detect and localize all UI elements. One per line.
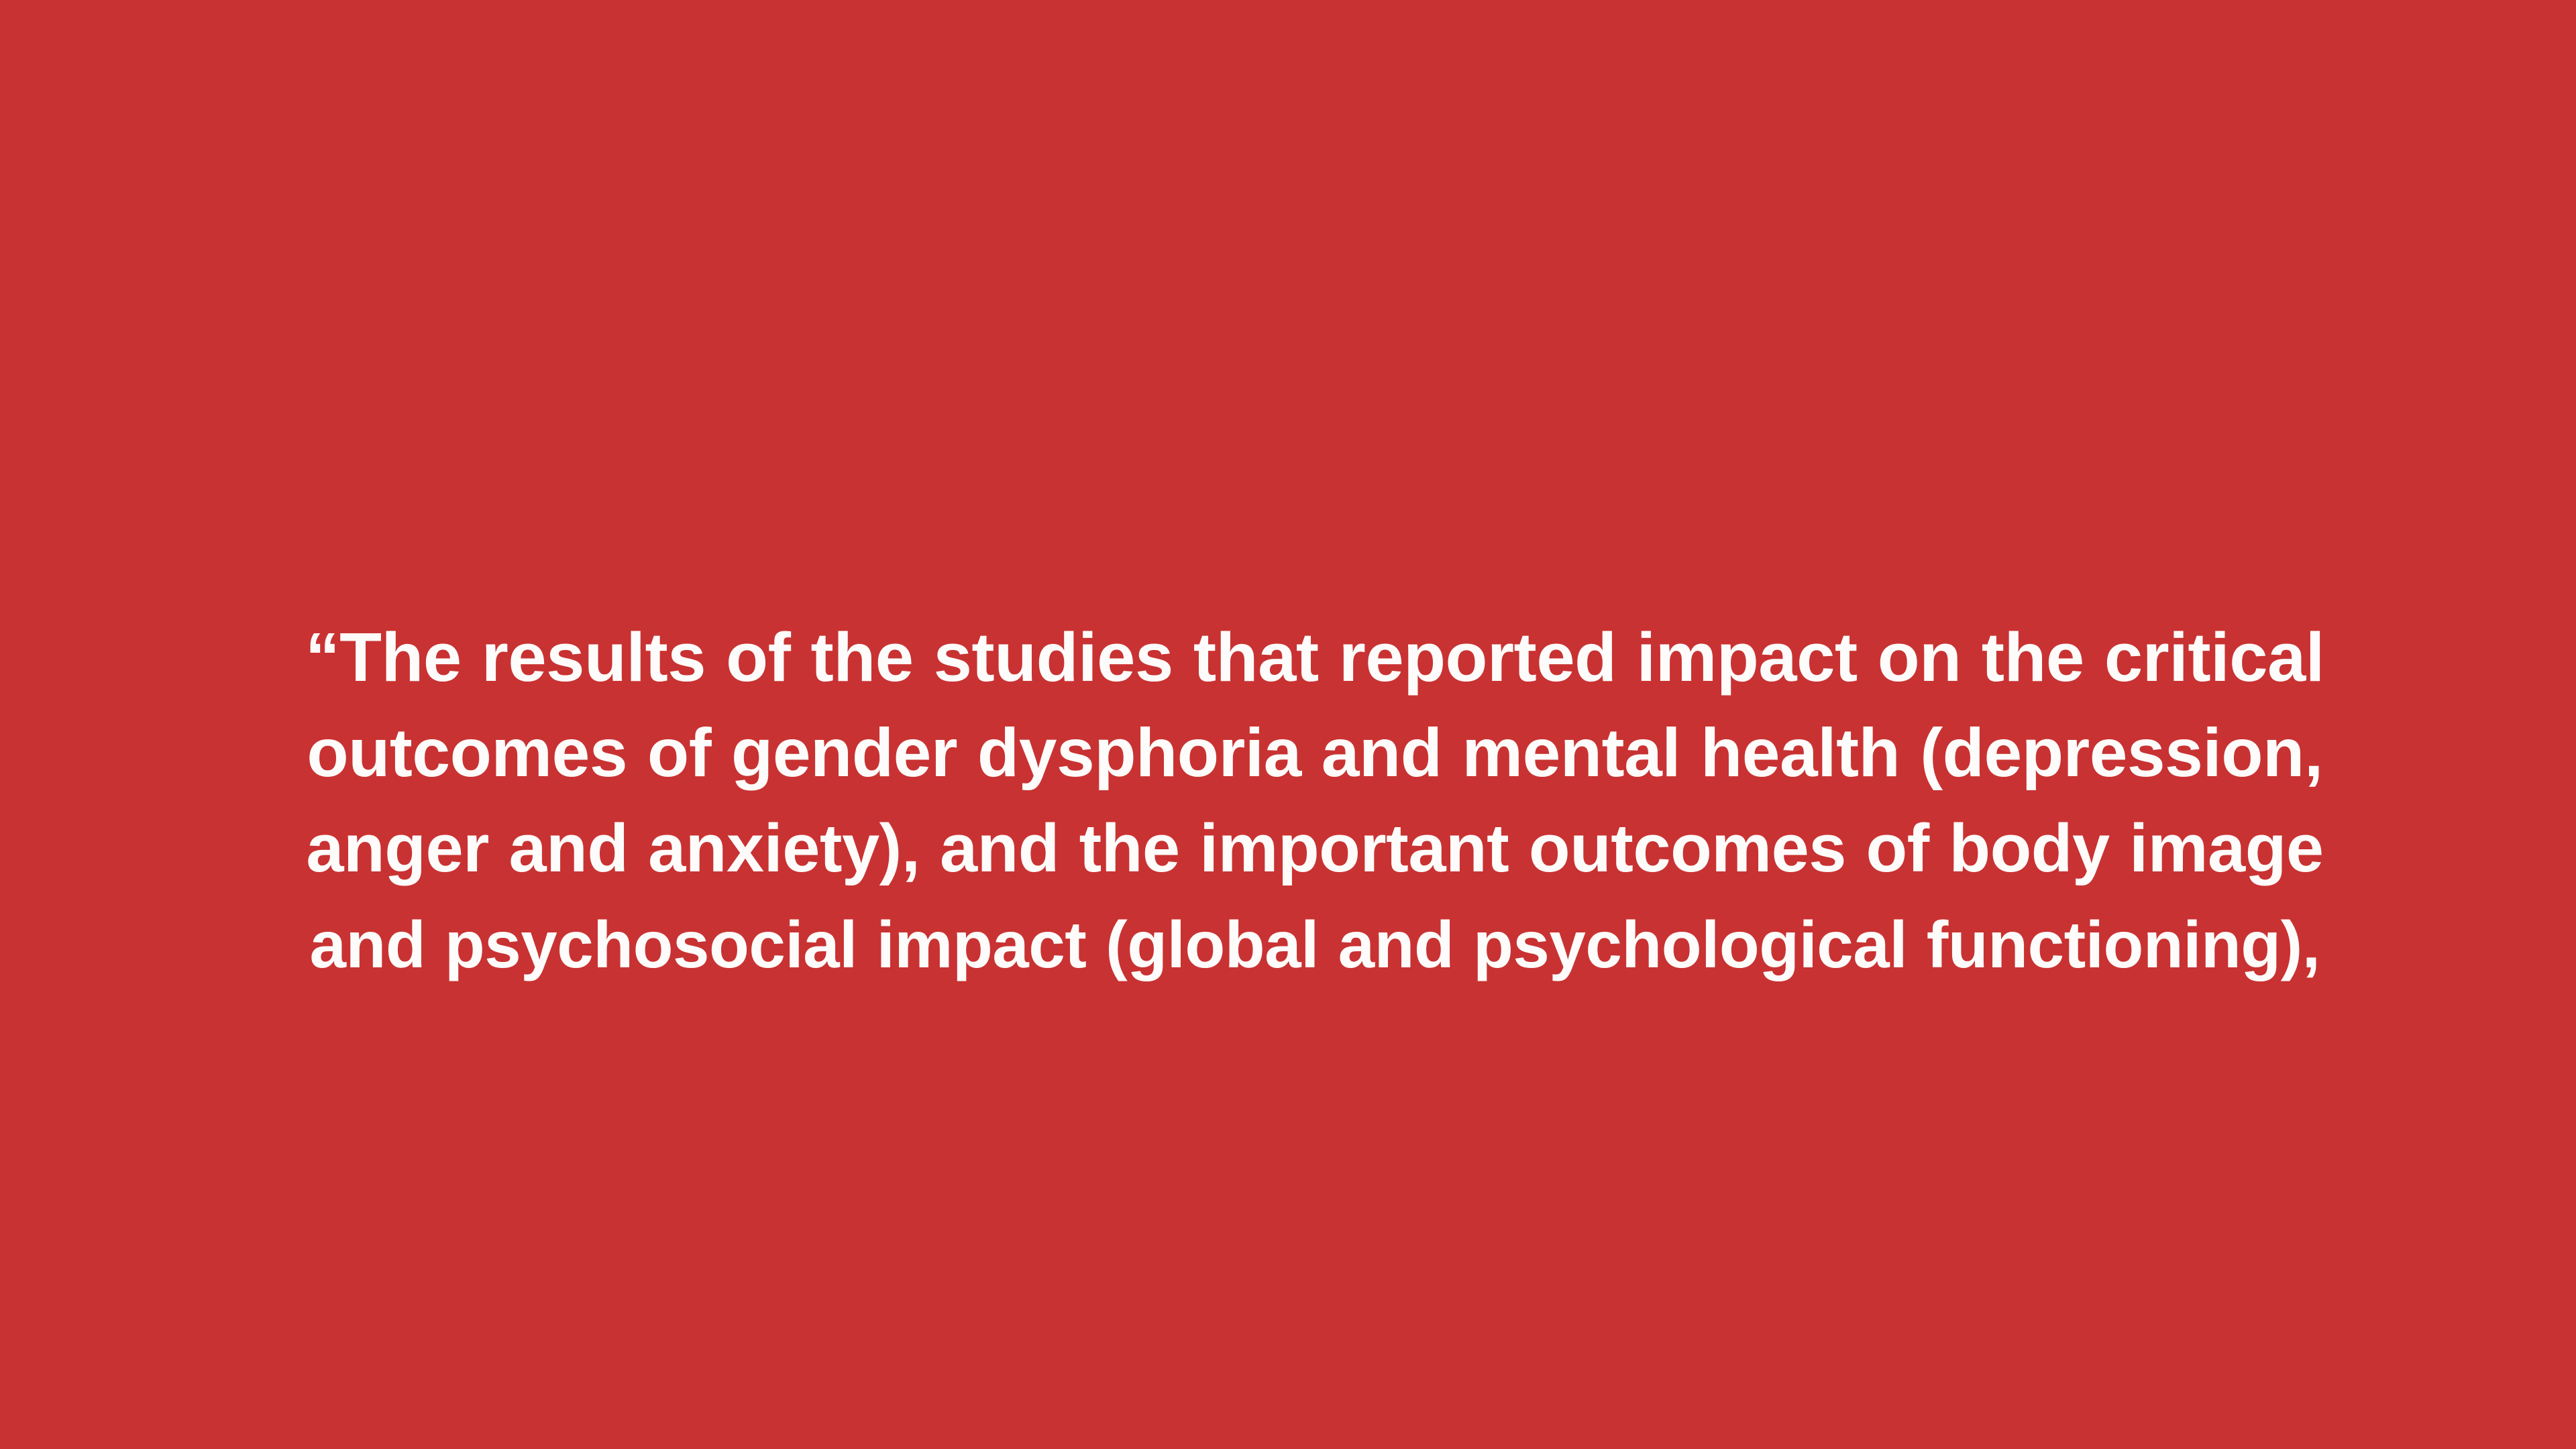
quote-text-block: “The results of the studies that reporte… — [305, 609, 2324, 993]
quote-line-1: “The results of the studies that reporte… — [305, 609, 2324, 705]
quote-line-4: and psychosocial impact (global and psyc… — [305, 897, 2324, 993]
quote-line-3: anger and anxiety), and the important ou… — [305, 801, 2324, 897]
quote-slide: “The results of the studies that reporte… — [0, 0, 2576, 1449]
quote-line-2: outcomes of gender dysphoria and mental … — [305, 705, 2324, 801]
